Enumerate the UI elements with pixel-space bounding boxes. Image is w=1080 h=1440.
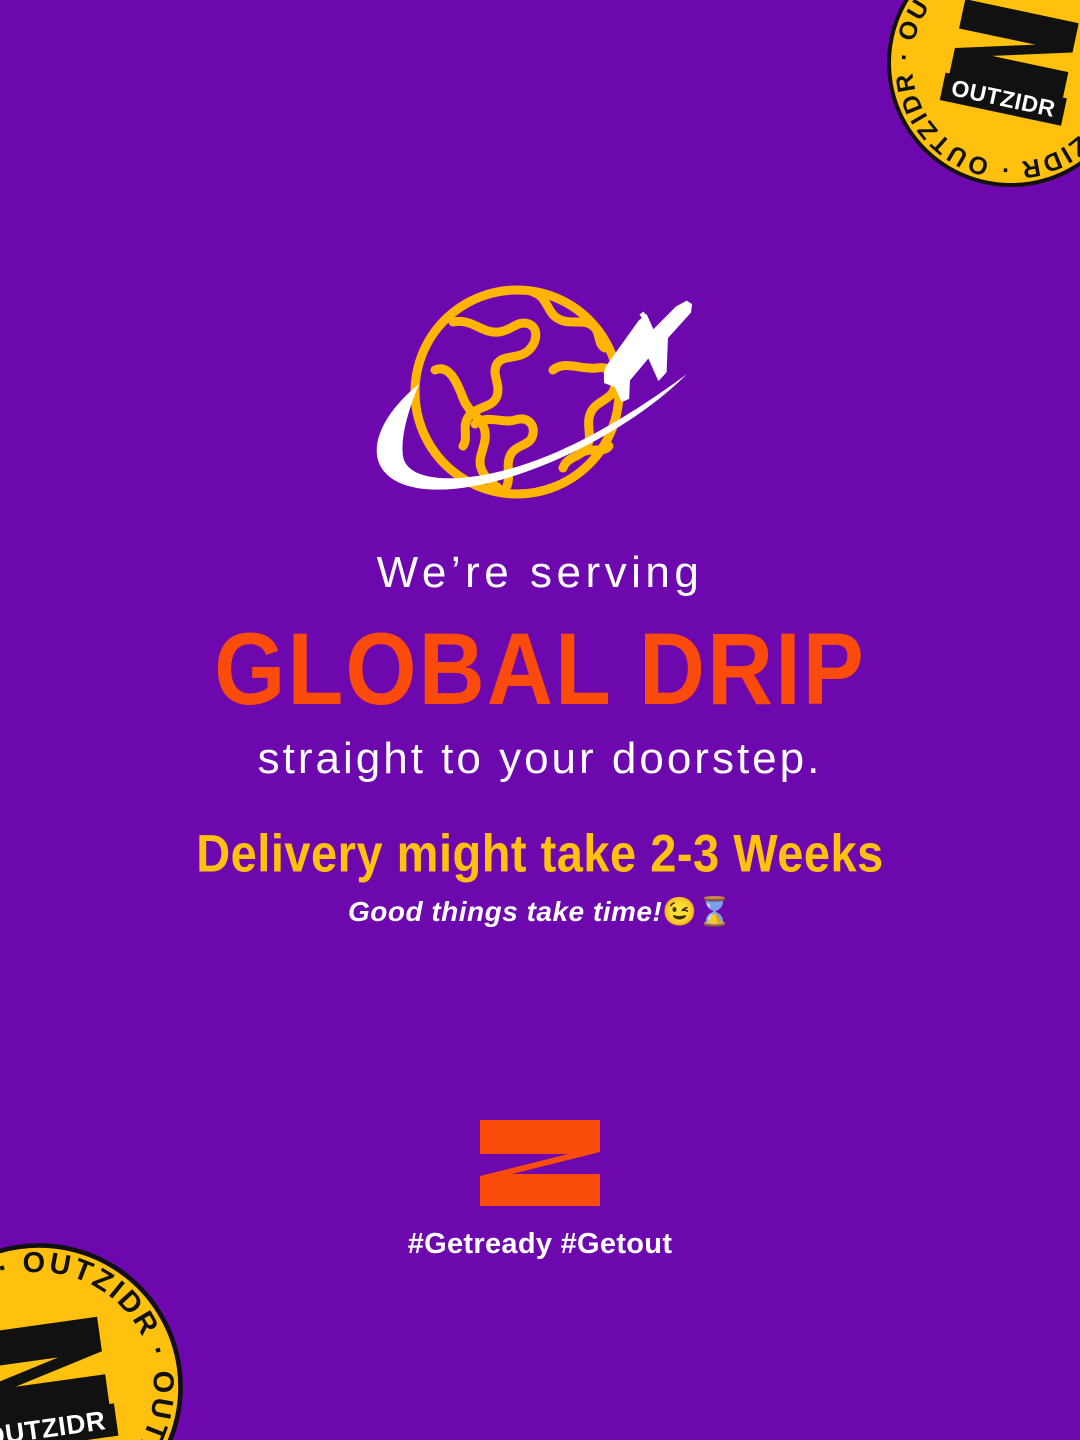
delivery-subtext: Good things take time!😉⌛ [0,895,1080,928]
globe-with-airplane-illustration [357,278,717,513]
headline-line-pre: We’re serving [0,548,1080,599]
delivery-notice-block: Delivery might take 2-3 Weeks Good thing… [0,822,1080,928]
headline-line-post: straight to your doorstep. [0,734,1080,785]
outzidr-sticker-badge-top-right: OUTZIDR · OUTZIDR · OUTZIDR · OUTZIDR · … [863,0,1080,211]
headline-line-main: GLOBAL DRIP [0,609,1080,729]
headline-copy-block: We’re serving GLOBAL DRIP straight to yo… [0,548,1080,785]
globe-icon [357,278,717,513]
delivery-subtext-label: Good things take time! [348,896,662,927]
wink-hourglass-emoji: 😉⌛ [662,896,732,927]
delivery-time-text: Delivery might take 2-3 Weeks [0,822,1080,884]
outzidr-z-logo [478,1118,602,1208]
promo-poster: We’re serving GLOBAL DRIP straight to yo… [0,0,1080,1440]
